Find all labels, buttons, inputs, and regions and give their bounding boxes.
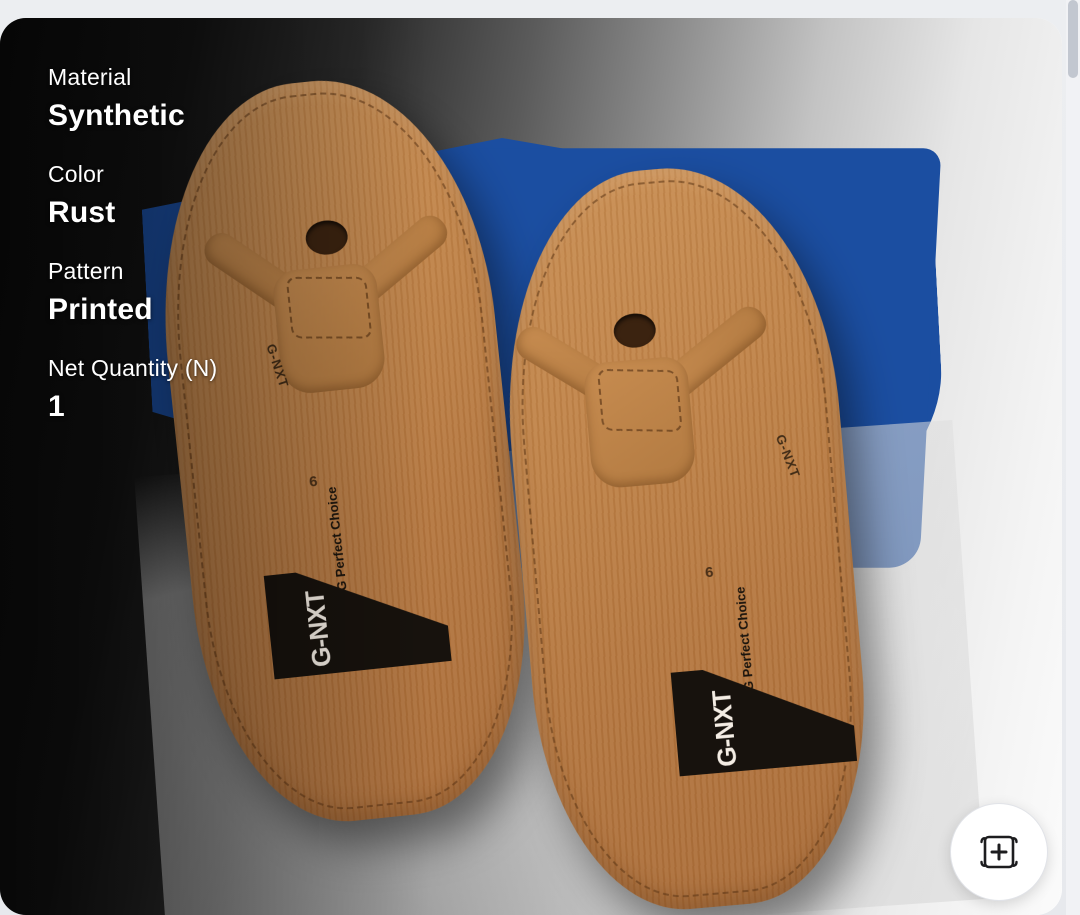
sandal-right-logo-text: G-NXT xyxy=(706,690,743,768)
sandal-right-strap-stitch xyxy=(597,369,683,432)
page-scrollbar-track[interactable] xyxy=(1066,0,1080,915)
sandal-right-stitching xyxy=(501,168,868,908)
sandal-left-stitching xyxy=(153,78,532,822)
page-scrollbar-thumb[interactable] xyxy=(1068,0,1078,78)
product-image-card[interactable]: 6 G-NXT G-NXT G Perfect Choice 6 G-NXT G… xyxy=(0,18,1062,915)
sandal-left-strap-stitch xyxy=(286,277,373,339)
sandal-left-size-marking: 6 xyxy=(308,473,318,491)
product-photo: 6 G-NXT G-NXT G Perfect Choice 6 G-NXT G… xyxy=(0,18,1062,915)
add-to-compare-button[interactable] xyxy=(950,803,1048,901)
sandal-right: 6 G-NXT G-NXT G Perfect Choice xyxy=(488,155,881,915)
plus-in-box-icon xyxy=(976,829,1022,875)
screen-root: 6 G-NXT G-NXT G Perfect Choice 6 G-NXT G… xyxy=(0,0,1080,915)
sandal-right-size-marking: 6 xyxy=(704,564,714,582)
